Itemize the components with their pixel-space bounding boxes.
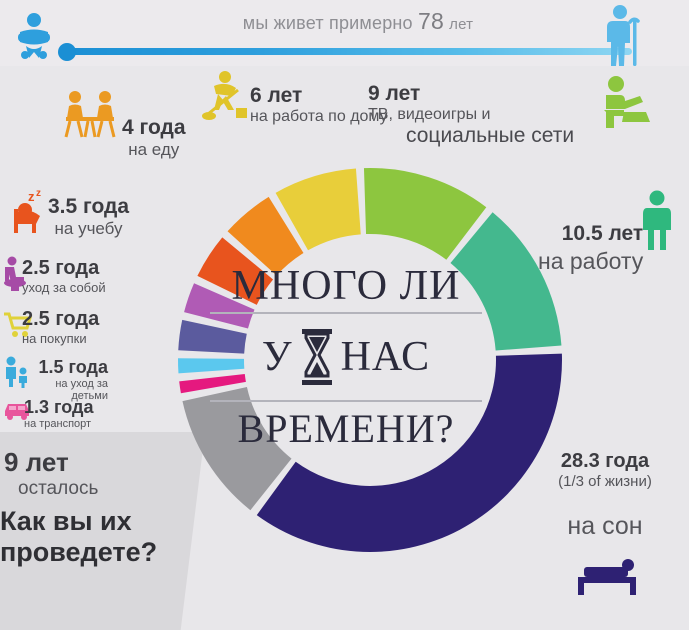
donut-slice-childcare — [178, 358, 244, 373]
childcare-label: на уход за — [28, 378, 108, 390]
eat-label: на еду — [122, 140, 186, 160]
person-with-laptop-icon — [598, 74, 652, 130]
lifespan-start-dot — [58, 43, 76, 61]
label-selfcare: 2.5 года уход за собой — [22, 257, 106, 295]
selfcare-label: уход за собой — [22, 280, 106, 295]
tv-label-2: социальные сети — [406, 124, 574, 148]
study-label: на учебу — [48, 219, 129, 239]
housework-value: 6 лет — [250, 84, 388, 108]
standing-person-icon — [640, 190, 674, 250]
remaining-label: осталось — [18, 478, 98, 500]
childcare-value: 1.5 года — [28, 357, 108, 378]
study-value: 3.5 года — [48, 195, 129, 219]
tv-label: ТВ, видеоигры и — [368, 106, 574, 124]
work-label: на работу — [538, 248, 643, 275]
tv-value: 9 лет — [368, 82, 574, 106]
shopping-label: на покупки — [22, 331, 99, 346]
infographic-canvas: мы живет примерно 78 лет МНОГО ЛИ У — [0, 0, 689, 630]
sleep-note: (1/3 of жизни) — [540, 473, 670, 490]
remaining-value: 9 лет — [4, 447, 98, 478]
shopping-value: 2.5 года — [22, 308, 99, 331]
banner-number: 78 — [418, 8, 444, 34]
label-work: 10.5 лет на работу — [538, 222, 643, 275]
label-remaining: 9 лет осталось — [4, 447, 98, 500]
lifespan-line — [62, 48, 632, 55]
label-housework: 6 лет на работа по дому — [250, 84, 388, 126]
sleep-label: на сон — [540, 512, 670, 541]
label-childcare: 1.5 года на уход за детьми — [28, 357, 108, 402]
label-eat: 4 года на еду — [122, 116, 186, 160]
two-people-at-table-icon — [64, 90, 116, 138]
work-value: 10.5 лет — [538, 222, 643, 246]
elderly-person-with-cane-icon — [600, 4, 648, 66]
baby-icon — [12, 12, 56, 60]
banner-prefix: мы живет примерно — [243, 13, 413, 33]
eat-value: 4 года — [122, 116, 186, 140]
lifespan-banner-text: мы живет примерно 78 лет — [198, 8, 518, 35]
adult-and-child-icon — [4, 356, 30, 388]
svg-text:z: z — [28, 189, 35, 204]
svg-text:z: z — [36, 188, 41, 199]
transport-value: 1.3 года — [24, 397, 93, 418]
label-sleep: 28.3 года (1/3 of жизни) на сон — [540, 450, 670, 541]
donut-slice-sleep — [257, 354, 562, 552]
lifespan-banner: мы живет примерно 78 лет — [0, 0, 689, 66]
housework-label: на работа по дому — [250, 108, 388, 126]
label-shopping: 2.5 года на покупки — [22, 308, 99, 346]
selfcare-value: 2.5 года — [22, 257, 106, 280]
label-tv: 9 лет ТВ, видеоигры и социальные сети — [368, 82, 574, 148]
banner-unit: лет — [449, 16, 473, 33]
label-transport: 1.3 года на транспорт — [24, 397, 93, 430]
bed-icon — [570, 555, 642, 597]
closing-question: Как вы их проведете? — [0, 506, 180, 568]
sleep-value: 28.3 года — [540, 450, 670, 473]
transport-label: на транспорт — [24, 418, 93, 430]
label-study: 3.5 года на учебу — [48, 195, 129, 239]
sweeping-person-icon — [200, 70, 250, 122]
time-donut-chart — [170, 160, 570, 560]
